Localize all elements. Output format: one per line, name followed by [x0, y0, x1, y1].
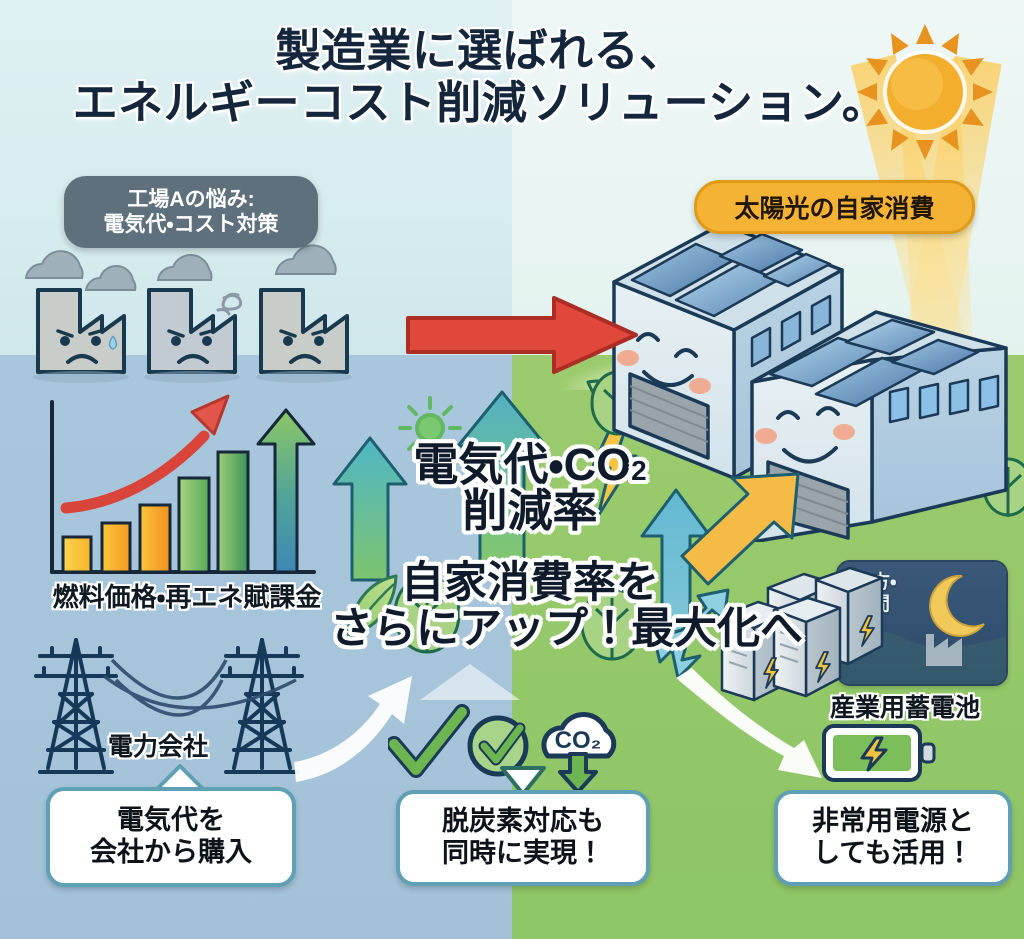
caption-2-line-1: 脱炭素対応も: [442, 806, 604, 838]
chart-caption: 燃料価格・再エネ賦課金: [22, 577, 352, 614]
title-line-2: エネルギーコスト削減ソリューション。: [60, 78, 900, 128]
headline-line-2: 削減率: [330, 486, 730, 536]
headline-line-1: 電気代・CO2: [330, 440, 730, 490]
battery-storage-label: 産業用蓄電池: [830, 688, 980, 724]
caption-1-line-1: 電気代を: [117, 805, 225, 837]
caption-card-backup-power: 非常用電源と しても活用！: [774, 790, 1012, 886]
headline-line-3: 自家消費率を: [330, 559, 730, 607]
sad-factories-group: [18, 238, 363, 383]
caption-1-line-2: 会社から購入: [90, 837, 252, 869]
headline-line-1-main: 電気代・CO: [413, 439, 631, 490]
caption-card-decarbonization: 脱炭素対応も 同時に実現！: [396, 790, 650, 886]
transition-arrow-icon: [404, 294, 640, 376]
steam-swirl-icon: [218, 294, 241, 314]
infographic-poster: 製造業に選ばれる、 エネルギーコスト削減ソリューション。 工場Aの悩み: 電気代…: [0, 0, 1024, 939]
title-line-1: 製造業に選ばれる、: [60, 26, 900, 76]
solar-badge-label: 太陽光の自家消費: [734, 189, 934, 225]
problem-badge-line-2: 電気代・コスト対策: [103, 212, 278, 237]
co2-text: CO₂: [555, 727, 602, 754]
headline-line-1-subscript: 2: [631, 455, 647, 486]
solar-badge: 太陽光の自家消費: [694, 180, 975, 234]
problem-badge-line-1: 工場Aの悩み:: [127, 187, 254, 212]
caption-2-line-2: 同時に実現！: [442, 838, 604, 870]
caption-3-line-2: しても活用！: [813, 838, 973, 870]
cloud-icon: [26, 245, 336, 290]
sad-factory-1: [38, 290, 124, 372]
co2-down-arrow-icon: [560, 754, 596, 790]
battery-icon: [820, 722, 938, 784]
utility-label: 電力会社: [108, 727, 208, 763]
caption-card-purchase: 電気代を 会社から購入: [46, 787, 296, 887]
sad-factory-3: [261, 290, 347, 372]
big-up-arrow-icon: [258, 410, 314, 572]
pylon-left: [36, 640, 116, 772]
headline-line-4: さらにアップ！最大化へ: [330, 605, 730, 653]
caption-3-line-1: 非常用電源と: [812, 806, 974, 838]
check-icon-1: [394, 712, 462, 770]
poster-title: 製造業に選ばれる、 エネルギーコスト削減ソリューション。: [60, 26, 900, 129]
pylon-right: [222, 640, 302, 772]
co2-cloud-icon: CO₂: [544, 715, 614, 756]
problem-badge: 工場Aの悩み: 電気代・コスト対策: [64, 176, 318, 248]
center-headline: 電気代・CO2 削減率 自家消費率を さらにアップ！最大化へ: [330, 440, 730, 653]
